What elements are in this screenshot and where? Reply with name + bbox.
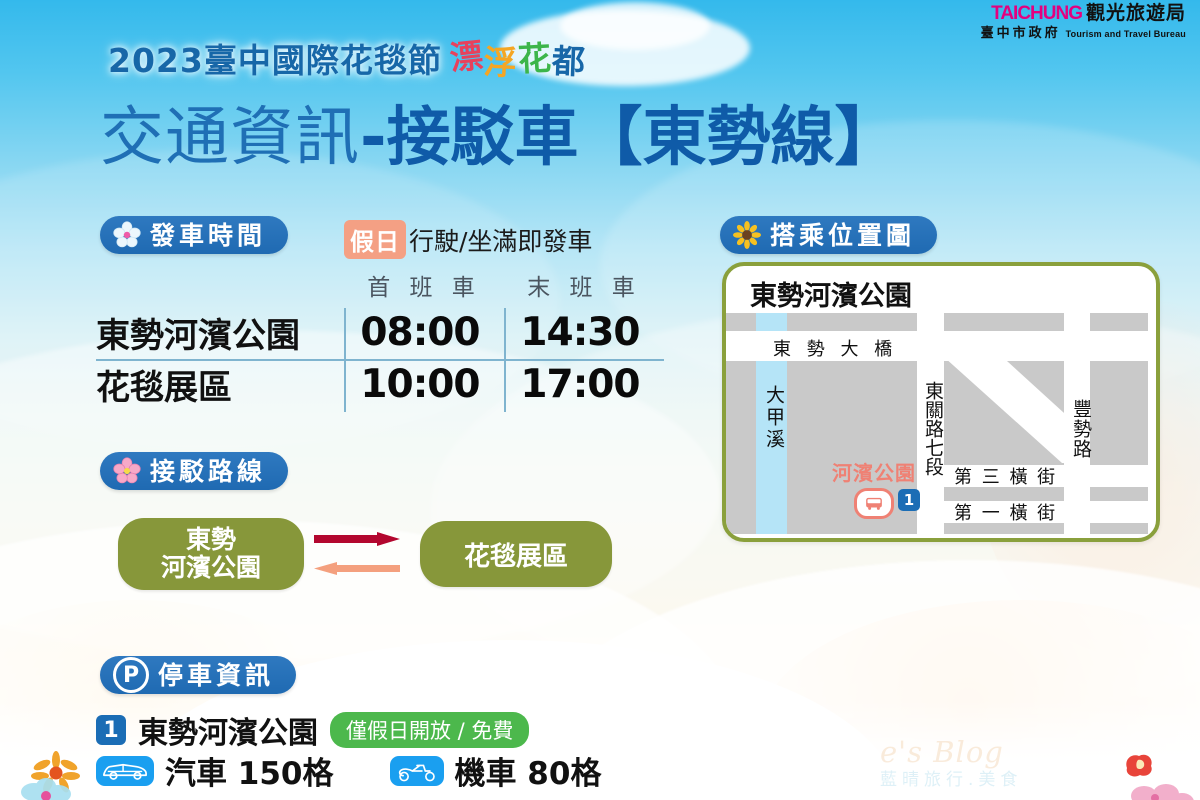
timetable-stop-name: 花毯展區: [96, 360, 340, 409]
timetable-stop-name: 東勢河濱公園: [96, 308, 340, 357]
departure-timetable: 首 班 車 末 班 車 東勢河濱公園 08:00 14:30 花毯展區 10:0…: [96, 268, 666, 410]
timetable-col-first: 首 班 車: [344, 268, 504, 302]
timetable-header-row: 首 班 車 末 班 車: [96, 268, 666, 302]
parking-moto-capacity: 機車 80格: [390, 748, 602, 793]
section-header-boarding-map: 搭乘位置圖: [720, 216, 937, 254]
logo-government-cn: 臺中市政府: [981, 26, 1061, 39]
map-canvas: 東 勢 大 橋 大甲溪 河濱公園 東關路七段 第 三 橫 街 第 一 橫 街 豐…: [726, 313, 1148, 534]
table-row: 花毯展區 10:00 17:00: [96, 358, 666, 410]
parking-lot-row: 1 東勢河濱公園 僅假日開放 / 免費: [96, 708, 529, 752]
table-row: 東勢河濱公園 08:00 14:30: [96, 306, 666, 358]
page-title: 交通資訊 -接駁車【東勢線】: [100, 86, 899, 178]
section-header-shuttle-route: 接駁路線: [100, 452, 288, 490]
parking-moto-text: 機車 80格: [455, 748, 602, 793]
parking-availability-badge: 僅假日開放 / 免費: [330, 712, 529, 748]
section-header-departure-time: 發車時間: [100, 216, 288, 254]
section-label-departure-time: 發車時間: [150, 223, 266, 248]
cherry-blossom-icon: [113, 221, 141, 249]
event-title-char-1: 漂: [447, 28, 486, 79]
page-title-light: 交通資訊: [100, 86, 360, 178]
section-header-parking: P 停車資訊: [100, 656, 296, 694]
map-label-fengshi-road: 豐勢路: [1068, 399, 1095, 459]
parking-car-text: 汽車 150格: [165, 748, 334, 793]
pink-flower-decoration: [1128, 778, 1198, 800]
map-label-main-road: 東關路七段: [920, 381, 947, 476]
map-label-third-street: 第 三 橫 街: [954, 463, 1057, 489]
map-stop-number-badge: 1: [898, 489, 920, 511]
timetable-first-bus: 08:00: [340, 310, 500, 355]
parking-lot-name: 東勢河濱公園: [138, 708, 318, 752]
route-origin-line1: 東勢: [161, 526, 261, 554]
sunflower-icon: [733, 221, 761, 249]
holiday-badge: 假日: [344, 220, 406, 259]
event-title: 2023臺中國際花毯節 漂浮花都: [108, 34, 586, 82]
parking-car-capacity: 汽車 150格: [96, 748, 334, 793]
page-title-bold: -接駁車【東勢線】: [360, 86, 899, 178]
event-title-sub: 漂浮花都: [450, 34, 586, 82]
event-title-main: 2023臺中國際花毯節: [108, 34, 442, 82]
bus-stop-icon: [854, 488, 894, 519]
timetable-col-last: 末 班 車: [504, 268, 664, 302]
map-card-title: 東勢河濱公園: [750, 274, 912, 313]
festival-flower-logo-icon: [1122, 750, 1156, 780]
logo-bureau-cn: 觀光旅遊局: [1086, 4, 1186, 23]
parking-lot-number-badge: 1: [96, 715, 126, 745]
section-label-shuttle-route: 接駁路線: [150, 459, 266, 484]
route-arrows: [310, 518, 414, 590]
boarding-location-map-card: 東勢河濱公園 東 勢 大 橋 大甲溪 河濱公園 東關路: [722, 262, 1160, 542]
map-label-river: 大甲溪: [761, 385, 788, 451]
route-origin-pill: 東勢 河濱公園: [118, 518, 304, 590]
logo-taichung-en: TAICHUNG: [991, 4, 1082, 23]
bureau-logo: TAICHUNG 觀光旅遊局 臺中市政府 Tourism and Travel …: [981, 4, 1186, 39]
timetable-last-bus: 17:00: [500, 362, 660, 407]
departure-note-text: 行駛/坐滿即發車: [409, 222, 592, 258]
pink-flower-icon: [113, 457, 141, 485]
parking-p-icon: P: [113, 657, 149, 693]
map-label-first-street: 第 一 橫 街: [954, 499, 1057, 525]
route-origin-line2: 河濱公園: [161, 554, 261, 582]
logo-bureau-en: Tourism and Travel Bureau: [1066, 30, 1186, 39]
timetable-first-bus: 10:00: [340, 362, 500, 407]
arrow-left-icon: [314, 562, 400, 575]
route-destination-pill: 花毯展區: [420, 521, 612, 587]
section-label-parking: 停車資訊: [158, 663, 274, 688]
timetable-divider: [96, 359, 664, 361]
scooter-icon: [390, 756, 444, 786]
event-title-char-3: 花: [517, 31, 553, 81]
map-label-park: 河濱公園: [832, 457, 916, 486]
arrow-right-icon: [314, 532, 400, 546]
parking-capacity-row: 汽車 150格 機車 80格: [96, 748, 601, 793]
departure-note: 假日 行駛/坐滿即發車: [344, 220, 592, 259]
poster-canvas: TAICHUNG 觀光旅遊局 臺中市政府 Tourism and Travel …: [0, 0, 1200, 800]
map-label-bridge: 東 勢 大 橋: [773, 335, 897, 361]
event-title-char-2: 浮: [483, 35, 519, 85]
timetable-last-bus: 14:30: [500, 310, 660, 355]
section-label-boarding-map: 搭乘位置圖: [770, 223, 915, 248]
event-title-char-4: 都: [551, 34, 587, 83]
shuttle-route-diagram: 東勢 河濱公園 花毯展區: [118, 518, 612, 590]
car-icon: [96, 756, 154, 786]
flower-decoration: [18, 748, 96, 800]
